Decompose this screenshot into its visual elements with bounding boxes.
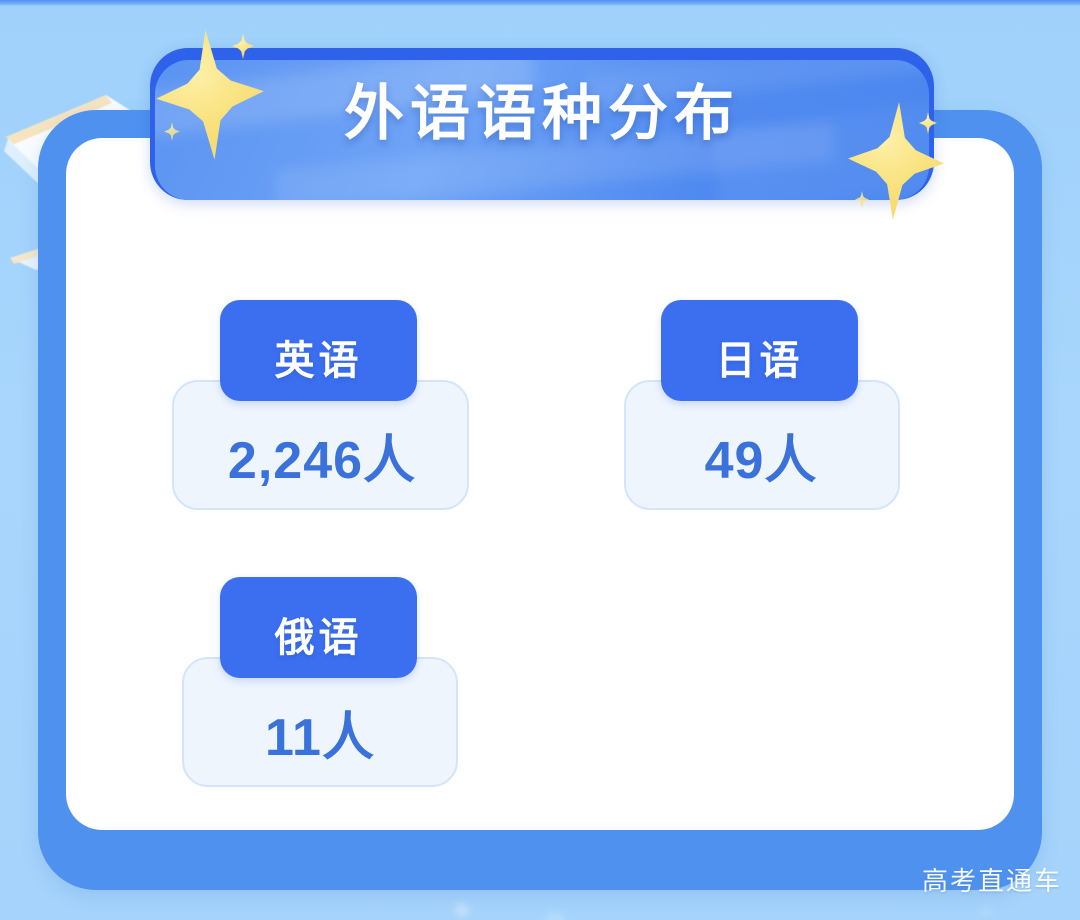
watermark: 高考直通车 xyxy=(922,861,1062,898)
bokeh-dot xyxy=(545,912,565,920)
stat-card[interactable]: 2,246人 英语 xyxy=(172,300,472,510)
bokeh-dot xyxy=(980,905,992,917)
stat-card-label-pill[interactable]: 俄语 xyxy=(220,577,417,678)
stat-card-value: 49人 xyxy=(624,418,898,493)
stat-card-label-pill[interactable]: 英语 xyxy=(220,300,417,401)
stat-card-value: 2,246人 xyxy=(172,418,472,493)
stat-card-value: 11人 xyxy=(182,695,458,770)
stat-card-label: 英语 xyxy=(220,328,417,386)
stat-card-label: 日语 xyxy=(661,328,858,386)
stat-card-label: 俄语 xyxy=(220,605,417,663)
infographic-stage: 外语语种分布 2,246人 英语 49人 日语 11人 俄语 高考直通车 xyxy=(0,0,1080,920)
stat-card[interactable]: 49人 日语 xyxy=(622,300,922,510)
title-banner: 外语语种分布 xyxy=(150,48,934,200)
bokeh-dot xyxy=(455,903,469,917)
stat-card-label-pill[interactable]: 日语 xyxy=(661,300,858,401)
top-edge-strip xyxy=(0,0,1080,6)
page-title: 外语语种分布 xyxy=(150,82,934,145)
stat-card[interactable]: 11人 俄语 xyxy=(182,577,482,787)
